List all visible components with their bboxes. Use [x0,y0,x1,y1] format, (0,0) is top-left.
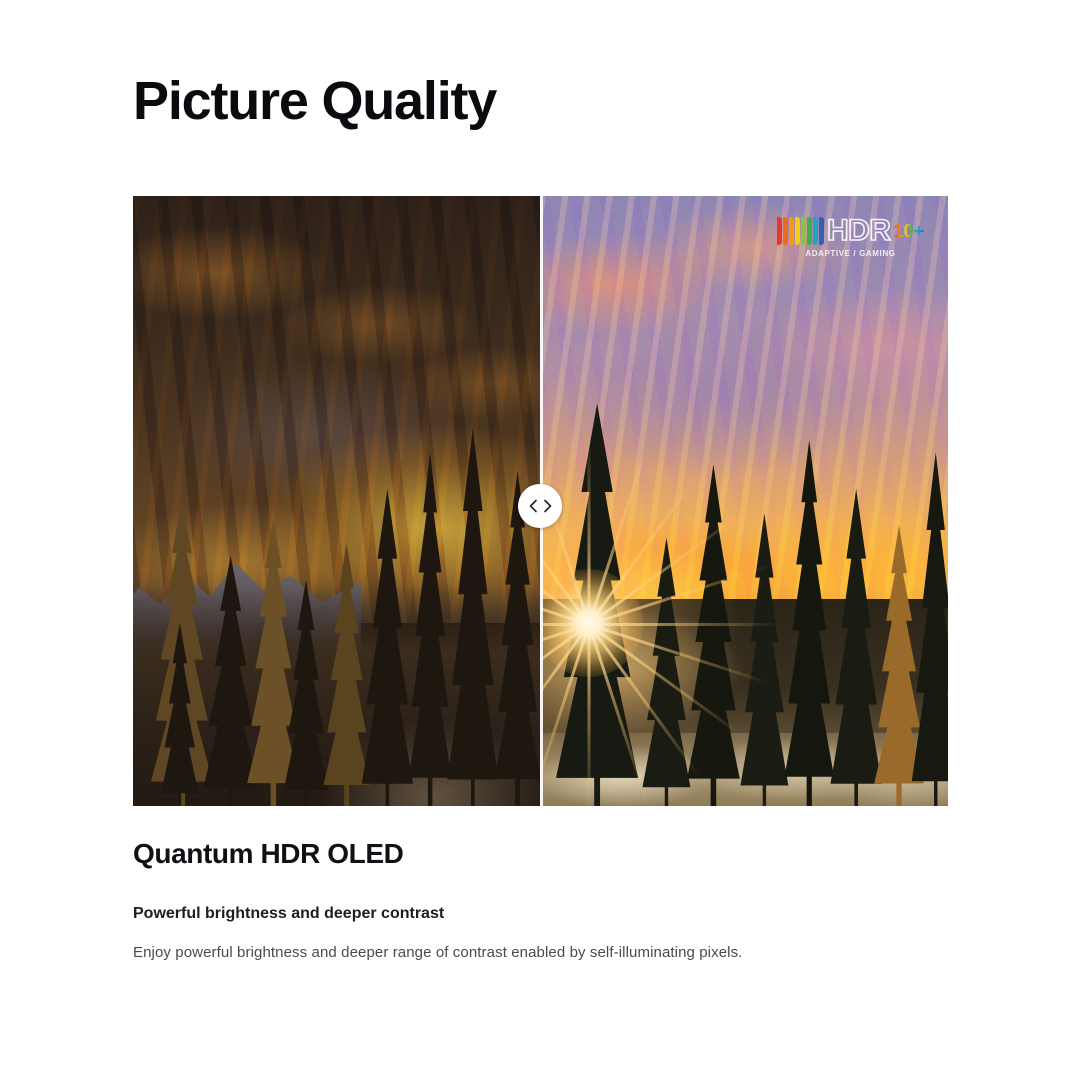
before-after-image-comparison[interactable]: HDR 10+ ADAPTIVE / GAMING [133,196,948,806]
page-title: Picture Quality [133,74,496,128]
chevron-right-icon [543,499,552,513]
hdr-rainbow-bars-icon [777,217,824,245]
comparison-left-sdr-image [133,196,540,806]
chevron-left-icon [529,499,538,513]
comparison-right-hdr-image [540,196,948,806]
comparison-slider-handle[interactable] [518,484,562,528]
hdr-logo-subtitle: ADAPTIVE / GAMING [805,249,895,258]
hdr-logo-suffix: 10+ [893,222,924,240]
feature-title: Quantum HDR OLED [133,838,403,870]
hdr10-plus-logo: HDR 10+ ADAPTIVE / GAMING [777,216,924,258]
sdr-scene [133,196,540,806]
hdr-scene [540,196,948,806]
hdr-logo-word: HDR [827,216,891,246]
picture-quality-page: Picture Quality [0,0,1080,1080]
hdr-sun-core [540,569,643,677]
feature-description: Enjoy powerful brightness and deeper ran… [133,944,742,961]
feature-subtitle: Powerful brightness and deeper contrast [133,905,444,923]
